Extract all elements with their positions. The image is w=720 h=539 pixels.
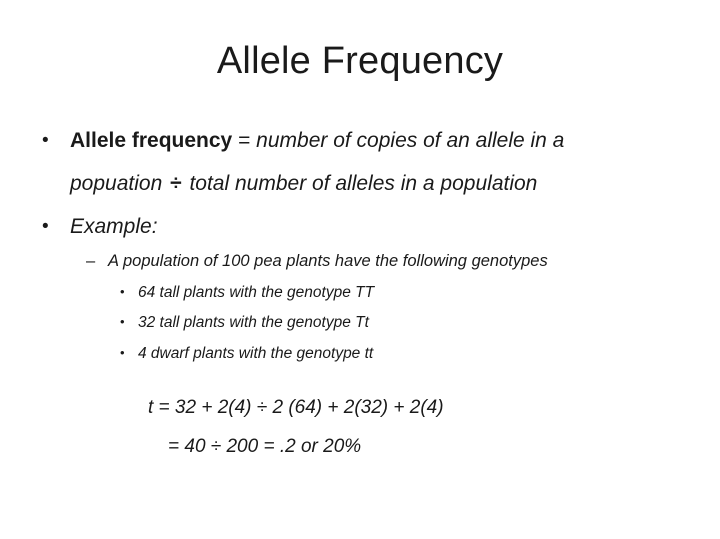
slide-body: • Allele frequency = number of copies of…	[0, 130, 720, 361]
definition-term: Allele frequency	[70, 129, 232, 152]
slide-canvas: Allele Frequency • Allele frequency = nu…	[0, 0, 720, 539]
definition-line1-text: number of copies of an allele in a	[256, 129, 564, 152]
list-item: • 4 dwarf plants with the genotype tt	[0, 346, 720, 362]
genotype-item-text: 64 tall plants with the genotype TT	[138, 284, 374, 301]
equation-line-2: = 40 ÷ 200 = .2 or 20%	[0, 437, 720, 456]
definition-equals: =	[232, 129, 256, 152]
definition-line2-after: total number of alleles in a population	[184, 172, 538, 195]
genotype-item-text: 4 dwarf plants with the genotype tt	[138, 345, 373, 362]
page-title: Allele Frequency	[0, 40, 720, 83]
equation-line-1: t = 32 + 2(4) ÷ 2 (64) + 2(32) + 2(4)	[0, 398, 720, 417]
example-sub-item: – A population of 100 pea plants have th…	[0, 253, 720, 270]
example-sub-text: A population of 100 pea plants have the …	[108, 252, 548, 270]
bullet-dot-icon: •	[120, 346, 125, 359]
bullet-dot-icon: •	[120, 315, 125, 328]
equation-block: t = 32 + 2(4) ÷ 2 (64) + 2(32) + 2(4) = …	[0, 398, 720, 456]
example-bullet: • Example:	[0, 216, 720, 237]
list-item: • 32 tall plants with the genotype Tt	[0, 315, 720, 331]
definition-line2: popuation ÷ total number of alleles in a…	[0, 173, 720, 194]
list-item: • 64 tall plants with the genotype TT	[0, 285, 720, 301]
bullet-dot-icon: •	[42, 131, 49, 150]
bullet-dot-icon: •	[120, 285, 125, 298]
definition-bullet: • Allele frequency = number of copies of…	[0, 130, 720, 151]
definition-line2-before: popuation	[70, 172, 168, 195]
bullet-dash-icon: –	[86, 253, 95, 270]
genotype-item-text: 32 tall plants with the genotype Tt	[138, 314, 369, 331]
bullet-dot-icon: •	[42, 217, 49, 236]
example-label: Example:	[70, 215, 158, 238]
division-symbol-icon: ÷	[168, 172, 184, 195]
